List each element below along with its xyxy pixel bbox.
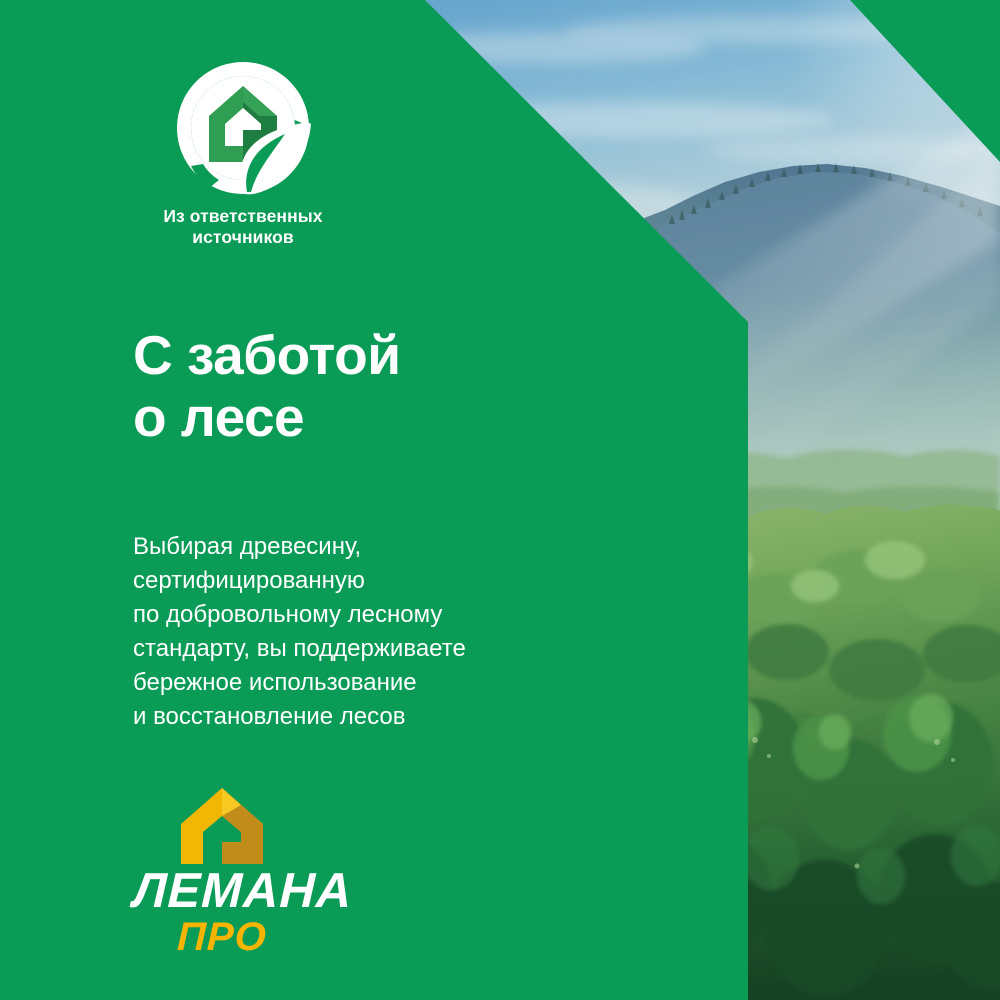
brand-sub-label: ПРО: [132, 917, 311, 957]
body-copy: Выбирая древесину, сертифицированную по …: [133, 530, 466, 734]
brand-name: ЛЕМАНА: [132, 868, 312, 915]
responsible-sources-house-leaf-emblem: [173, 58, 313, 198]
page-title: С заботой о лесе: [133, 325, 401, 448]
poster-content: Из ответственных источников С заботой о …: [0, 0, 748, 1000]
poster-canvas: Из ответственных источников С заботой о …: [0, 0, 1000, 1000]
lemana-house-icon: [179, 786, 265, 864]
responsible-sources-caption: Из ответственных источников: [133, 206, 353, 249]
brand-lockup: ЛЕМАНА ПРО: [133, 786, 311, 957]
responsible-sources-mark: Из ответственных источников: [133, 58, 353, 249]
